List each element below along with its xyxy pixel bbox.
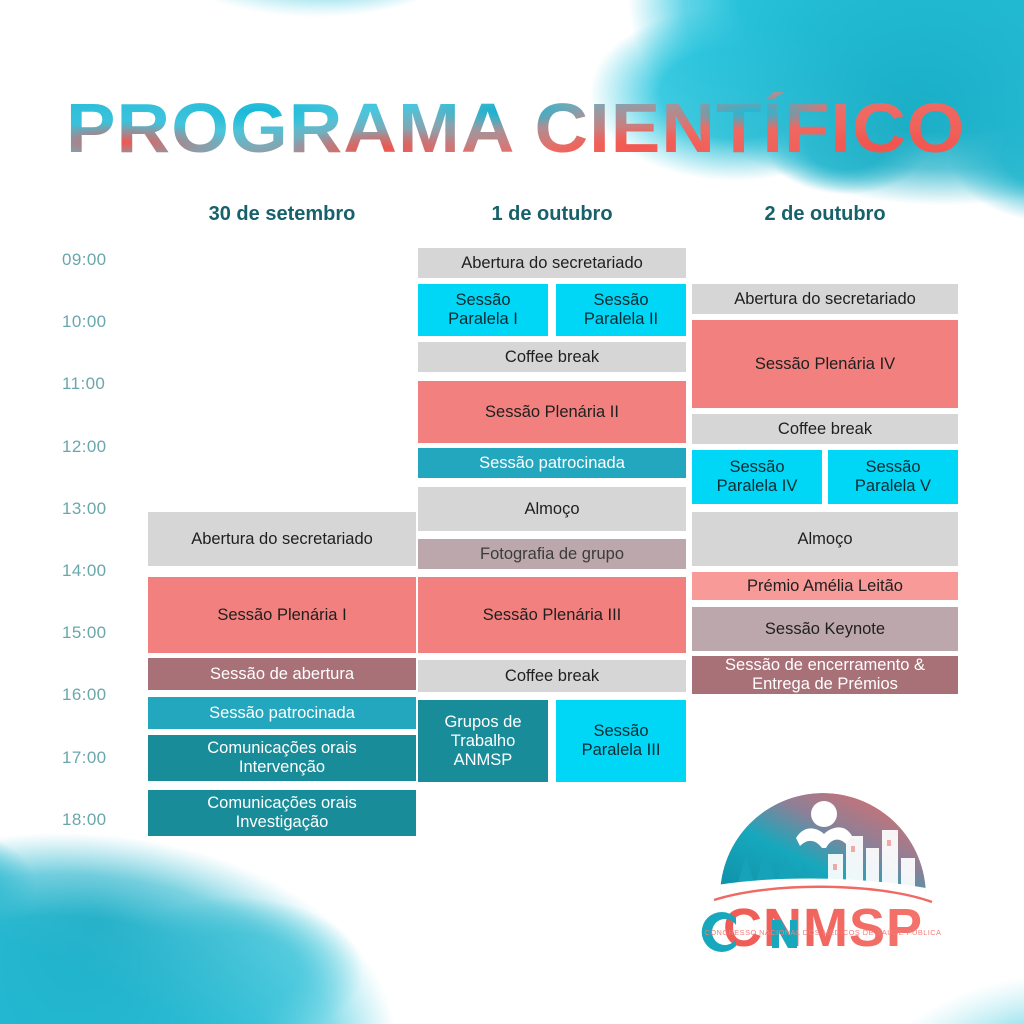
schedule-block-label: Coffee break bbox=[505, 348, 599, 367]
schedule-block-label: Sessão patrocinada bbox=[479, 454, 625, 473]
schedule-block-label: Coffee break bbox=[505, 667, 599, 686]
schedule-block: SessãoParalela II bbox=[556, 284, 686, 336]
schedule-block: Almoço bbox=[418, 487, 686, 531]
schedule-block: Abertura do secretariado bbox=[418, 248, 686, 278]
schedule-block-label: Abertura do secretariado bbox=[461, 254, 643, 273]
schedule-block-line: ANMSP bbox=[444, 751, 521, 770]
program-poster: PROGRAMA CIENTÍFICO 30 de setembro1 de o… bbox=[0, 0, 1024, 1024]
schedule-block: SessãoParalela IV bbox=[692, 450, 822, 504]
schedule-block-line: Comunicações orais bbox=[207, 794, 356, 813]
schedule-block-label: Sessão Plenária IV bbox=[755, 355, 895, 374]
time-label: 18:00 bbox=[62, 810, 140, 830]
schedule-block-label: Sessão de abertura bbox=[210, 665, 354, 684]
schedule-block: Coffee break bbox=[418, 660, 686, 692]
schedule-block-line: Paralela IV bbox=[717, 477, 798, 496]
schedule-block: Prémio Amélia Leitão bbox=[692, 572, 958, 600]
schedule-block-label: Comunicações oraisInvestigação bbox=[207, 794, 356, 832]
schedule-block: Grupos deTrabalhoANMSP bbox=[418, 700, 548, 782]
time-label: 14:00 bbox=[62, 561, 140, 581]
schedule-block-line: Intervenção bbox=[207, 758, 356, 777]
schedule-block: Sessão patrocinada bbox=[148, 697, 416, 729]
schedule-block-line: Sessão bbox=[448, 291, 518, 310]
schedule-block-label: SessãoParalela II bbox=[584, 291, 658, 329]
schedule-block-label: Sessão de encerramento &Entrega de Prémi… bbox=[725, 656, 925, 694]
schedule-block-label: SessãoParalela III bbox=[582, 722, 661, 760]
schedule-block: Sessão Plenária III bbox=[418, 577, 686, 653]
time-label: 17:00 bbox=[62, 748, 140, 768]
schedule-block-label: Sessão Plenária I bbox=[217, 606, 346, 625]
schedule-block-line: Entrega de Prémios bbox=[725, 675, 925, 694]
schedule-block-line: Grupos de bbox=[444, 713, 521, 732]
column-header-day-1: 30 de setembro bbox=[148, 203, 416, 226]
time-label: 13:00 bbox=[62, 499, 140, 519]
schedule-block: Sessão patrocinada bbox=[418, 448, 686, 478]
schedule-block-line: Sessão bbox=[582, 722, 661, 741]
schedule-block: Comunicações oraisIntervenção bbox=[148, 735, 416, 781]
time-label: 09:00 bbox=[62, 250, 140, 270]
schedule-block: Sessão de encerramento &Entrega de Prémi… bbox=[692, 656, 958, 694]
schedule-block: SessãoParalela I bbox=[418, 284, 548, 336]
schedule-block-label: Prémio Amélia Leitão bbox=[747, 577, 903, 596]
time-label: 10:00 bbox=[62, 312, 140, 332]
time-label: 11:00 bbox=[62, 374, 140, 394]
schedule-block: Almoço bbox=[692, 512, 958, 566]
schedule-block-label: Sessão Plenária II bbox=[485, 403, 619, 422]
schedule-block-label: Sessão Plenária III bbox=[483, 606, 622, 625]
time-label: 15:00 bbox=[62, 623, 140, 643]
schedule-block: Fotografia de grupo bbox=[418, 539, 686, 569]
schedule-block-label: Abertura do secretariado bbox=[734, 290, 916, 309]
schedule-block: Sessão Plenária I bbox=[148, 577, 416, 653]
schedule-block-label: Almoço bbox=[797, 530, 852, 549]
schedule-block: Coffee break bbox=[692, 414, 958, 444]
schedule-block-line: Paralela III bbox=[582, 741, 661, 760]
time-label: 12:00 bbox=[62, 437, 140, 457]
time-label: 16:00 bbox=[62, 685, 140, 705]
column-header-day-3: 2 de outubro bbox=[692, 203, 958, 226]
schedule-block-line: Paralela V bbox=[855, 477, 931, 496]
column-header-day-2: 1 de outubro bbox=[418, 203, 686, 226]
schedule-block-label: SessãoParalela IV bbox=[717, 458, 798, 496]
schedule-block: SessãoParalela III bbox=[556, 700, 686, 782]
schedule-block-label: Grupos deTrabalhoANMSP bbox=[444, 713, 521, 770]
schedule-block-label: Coffee break bbox=[778, 420, 872, 439]
schedule-block-label: Sessão Keynote bbox=[765, 620, 885, 639]
schedule-block-line: Paralela II bbox=[584, 310, 658, 329]
schedule-block-line: Sessão bbox=[717, 458, 798, 477]
schedule-block-label: Almoço bbox=[524, 500, 579, 519]
schedule-block-line: Investigação bbox=[207, 813, 356, 832]
schedule-block-label: SessãoParalela V bbox=[855, 458, 931, 496]
schedule-block: Sessão Plenária IV bbox=[692, 320, 958, 408]
schedule-block-line: Trabalho bbox=[444, 732, 521, 751]
schedule-block-label: Fotografia de grupo bbox=[480, 545, 624, 564]
schedule-block: Abertura do secretariado bbox=[148, 512, 416, 566]
schedule-block: Comunicações oraisInvestigação bbox=[148, 790, 416, 836]
schedule-block: Sessão Keynote bbox=[692, 607, 958, 651]
schedule-block: Sessão Plenária II bbox=[418, 381, 686, 443]
schedule-block: Abertura do secretariado bbox=[692, 284, 958, 314]
schedule-block-label: Sessão patrocinada bbox=[209, 704, 355, 723]
schedule-block-line: Sessão bbox=[584, 291, 658, 310]
schedule-block-label: Comunicações oraisIntervenção bbox=[207, 739, 356, 777]
schedule-block-line: Sessão bbox=[855, 458, 931, 477]
schedule-block-line: Sessão de encerramento & bbox=[725, 656, 925, 675]
schedule-block-label: Abertura do secretariado bbox=[191, 530, 373, 549]
schedule-block: Sessão de abertura bbox=[148, 658, 416, 690]
schedule-block: SessãoParalela V bbox=[828, 450, 958, 504]
schedule-block: Coffee break bbox=[418, 342, 686, 372]
schedule-block-line: Comunicações orais bbox=[207, 739, 356, 758]
schedule-block-label: SessãoParalela I bbox=[448, 291, 518, 329]
schedule-block-line: Paralela I bbox=[448, 310, 518, 329]
logo-tagline: CONGRESSO NACIONAL DOS MÉDICOS DE SAÚDE … bbox=[700, 928, 946, 937]
